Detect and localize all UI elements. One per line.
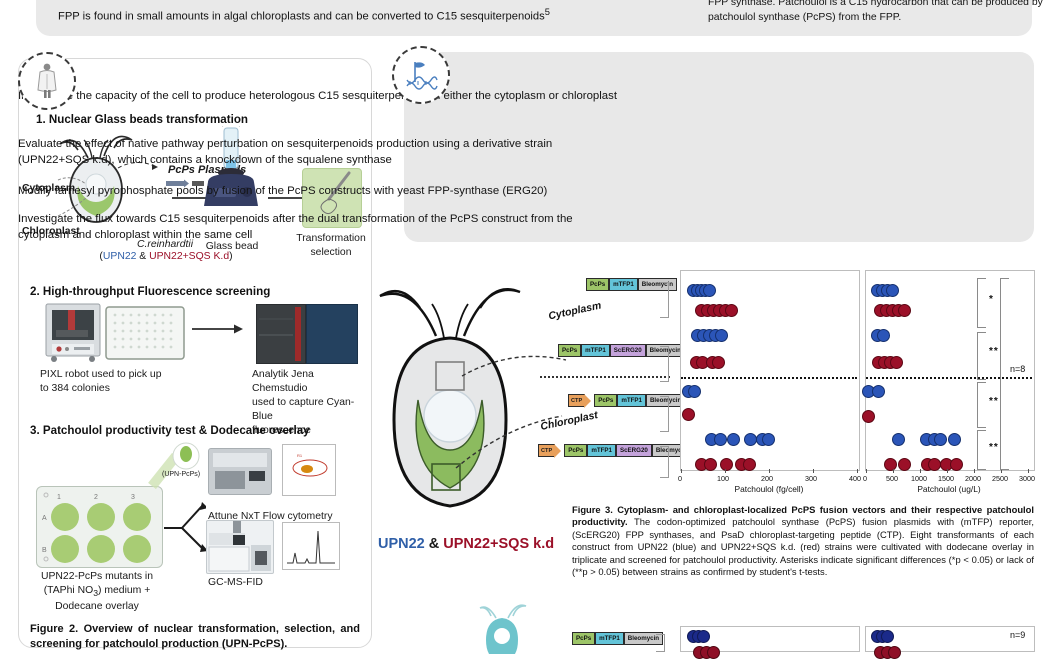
data-point — [898, 304, 911, 317]
data-point — [707, 646, 720, 659]
svg-text:2: 2 — [94, 494, 98, 501]
svg-text:3: 3 — [131, 494, 135, 501]
svg-text:R1: R1 — [297, 453, 303, 458]
chlamydomonas-cell-large-illustration — [378, 264, 568, 539]
pixl-robot-illustration — [44, 302, 102, 364]
construct-group-divider — [540, 376, 670, 378]
arrow-to-chemstudio-icon — [192, 322, 246, 336]
data-point — [890, 356, 903, 369]
384-well-plate-illustration — [105, 306, 185, 360]
x-tick — [920, 469, 921, 473]
x-tick — [893, 469, 894, 473]
data-point — [934, 433, 947, 446]
figure3-caption-rest: The codon-optimized patchoulol synthase … — [572, 516, 1034, 577]
upn-pcps-tag: (UPN-PcPs) — [162, 470, 200, 479]
x-tick-label: 300 — [805, 474, 817, 483]
sig-bracket-outer — [1000, 278, 1009, 470]
data-point — [727, 433, 740, 446]
cyan-fluorescence-image — [306, 304, 358, 364]
bracket-cyto-erg — [660, 346, 669, 382]
data-point — [697, 630, 710, 643]
gc-chromatogram-plot — [282, 522, 340, 570]
intro-strip: FPP is found in small amounts in algal c… — [36, 0, 1032, 36]
fig3-left-xlabel: Patchoulol (fg/cell) — [680, 484, 858, 494]
sig-marker-3: ** — [989, 396, 999, 407]
objective-item-3: Modify farnesyl pyrophosphate pools by f… — [18, 183, 618, 199]
n-label-fig4: n=9 — [1010, 630, 1025, 640]
x-tick-label: 1500 — [938, 474, 954, 483]
gene-scerg20: ScERG20 — [610, 344, 646, 357]
bracket-cyto-bleo — [660, 282, 669, 318]
intro-left-superscript: 5 — [545, 7, 550, 17]
bracket-chloro-erg — [660, 446, 669, 478]
n-label-fig3: n=8 — [1010, 364, 1025, 374]
x-tick-label: 3000 — [1019, 474, 1035, 483]
x-tick — [725, 469, 726, 473]
data-point — [872, 385, 885, 398]
data-point — [886, 284, 899, 297]
strain-legend-upn22-sqs: UPN22+SQS k.d — [443, 536, 554, 552]
methods-step2-heading: 2. High-throughput Fluorescence screenin… — [30, 285, 270, 298]
svg-text:1: 1 — [57, 494, 61, 501]
data-point — [762, 433, 775, 446]
upn-pcps-cell-callout — [146, 442, 216, 490]
x-tick-label: 200 — [761, 474, 773, 483]
data-point — [881, 630, 894, 643]
x-tick — [866, 469, 867, 473]
x-tick — [857, 469, 858, 473]
data-point — [884, 458, 897, 471]
gcms-label: GC-MS-FID — [208, 576, 263, 590]
methods-step3-heading: 3. Patchoulol productivity test & Dodeca… — [30, 424, 310, 437]
x-tick — [1028, 469, 1029, 473]
plate-caption: UPN22-PcPs mutants in(TAPhi NO3) medium … — [22, 570, 172, 614]
scientist-icon — [18, 52, 76, 110]
x-tick-label: 0 — [678, 474, 682, 483]
methods-step1-heading: 1. Nuclear Glass beads transformation — [36, 113, 248, 126]
gene-mtfp1: mTFP1 — [595, 632, 624, 645]
sig-bracket-1 — [977, 278, 986, 328]
data-point — [720, 458, 733, 471]
intro-right-text: FPP synthase. Patchoulol is a C15 hydroc… — [708, 0, 1050, 25]
data-point — [703, 284, 716, 297]
sig-bracket-3 — [977, 382, 986, 428]
fig3-right-xlabel: Patchoulol (ug/L) — [865, 484, 1033, 494]
gene-scerg20: ScERG20 — [616, 444, 652, 457]
x-tick — [769, 469, 770, 473]
gcms-instrument-illustration — [206, 520, 274, 574]
x-tick-label: 1000 — [911, 474, 927, 483]
strain-upn22-sqs: UPN22+SQS K.d — [149, 251, 229, 262]
sig-bracket-4 — [977, 430, 986, 470]
data-point — [888, 646, 901, 659]
figure2-caption: Figure 2. Overview of nuclear transforma… — [30, 622, 360, 652]
bracket-chloro-bleo — [660, 396, 669, 432]
data-point — [704, 458, 717, 471]
strain-upn22: UPN22 — [103, 251, 137, 262]
construct-bottom-pcps-mtfp-bleo: PcPs mTFP1 Bleomycin — [572, 632, 663, 645]
gene-mtfp1: mTFP1 — [587, 444, 616, 457]
data-point — [712, 356, 725, 369]
gene-pcps: PcPs — [572, 632, 595, 645]
objective-item-1: Investigate the capacity of the cell to … — [18, 88, 618, 104]
x-tick-label: 100 — [717, 474, 729, 483]
data-point — [682, 408, 695, 421]
data-point — [715, 329, 728, 342]
6-well-plate-illustration: 1 2 3 A B — [36, 486, 163, 568]
data-point — [725, 304, 738, 317]
x-tick-label: 0 — [863, 474, 867, 483]
data-point — [877, 329, 890, 342]
gene-bleomycin: Bleomycin — [638, 278, 677, 291]
x-tick-label: 500 — [886, 474, 898, 483]
sig-marker-2: ** — [989, 346, 999, 357]
objective-item-4: Investigate the flux towards C15 sesquit… — [18, 211, 618, 243]
data-point — [714, 433, 727, 446]
data-point — [948, 433, 961, 446]
gene-mtfp1: mTFP1 — [617, 394, 646, 407]
chemstudio-imager-illustration — [256, 304, 306, 364]
fig3-left-group-divider — [681, 377, 857, 379]
gene-pcps: PcPs — [586, 278, 609, 291]
flow-cytometry-plot: R1 — [282, 444, 336, 496]
data-point — [950, 458, 963, 471]
gene-mtfp1: mTFP1 — [581, 344, 610, 357]
strain-legend: UPN22 & UPN22+SQS k.d — [378, 536, 554, 552]
x-tick-label: 2500 — [992, 474, 1008, 483]
intro-left-text: FPP is found in small amounts in algal c… — [58, 6, 678, 25]
gene-ctp: CTP — [538, 444, 555, 457]
branch-arrows-icon — [162, 496, 206, 558]
sig-bracket-2 — [977, 332, 986, 380]
dna-flag-icon — [392, 46, 450, 104]
figure3-caption: Figure 3. Cytoplasm- and chloroplast-loc… — [572, 504, 1034, 578]
x-tick — [681, 469, 682, 473]
svg-text:B: B — [42, 547, 47, 554]
gene-pcps: PcPs — [564, 444, 587, 457]
pixl-caption: PIXL robot used to pick upto 384 colonie… — [40, 368, 180, 396]
svg-text:A: A — [42, 515, 47, 522]
strain-legend-upn22: UPN22 — [378, 536, 425, 552]
bracket-bottom — [656, 634, 665, 652]
sig-marker-1: * — [989, 294, 994, 305]
data-point — [743, 458, 756, 471]
data-point — [688, 385, 701, 398]
attune-flow-cytometer-illustration — [208, 448, 272, 495]
data-point — [862, 410, 875, 423]
objective-item-2: Evaluate the effect of native pathway pe… — [18, 136, 618, 168]
x-tick — [813, 469, 814, 473]
gene-pcps: PcPs — [558, 344, 581, 357]
cell-icon-teal — [478, 604, 534, 654]
data-point — [892, 433, 905, 446]
data-point — [898, 458, 911, 471]
gene-ctp: CTP — [568, 394, 585, 407]
gene-pcps: PcPs — [594, 394, 617, 407]
sig-marker-4: ** — [989, 442, 999, 453]
gene-mtfp1: mTFP1 — [609, 278, 638, 291]
x-tick-label: 400 — [849, 474, 861, 483]
x-tick-label: 2000 — [965, 474, 981, 483]
strains-label: (UPN22 & UPN22+SQS K.d) — [84, 250, 248, 264]
x-tick — [947, 469, 948, 473]
x-tick — [974, 469, 975, 473]
